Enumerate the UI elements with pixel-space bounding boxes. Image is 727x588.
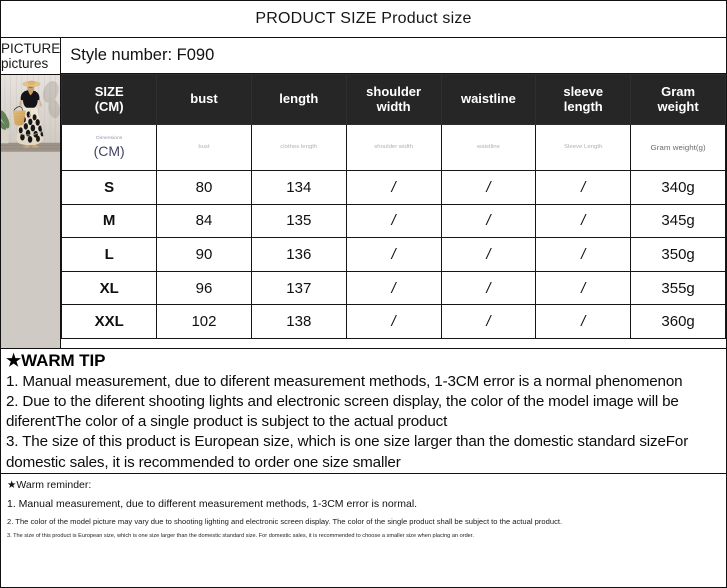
col-header-waistline: waistline — [441, 75, 536, 125]
cell-size: XXL — [62, 305, 157, 339]
cell-waistline: / — [441, 171, 536, 205]
cell-shoulder-width: / — [346, 238, 441, 272]
warm-tip-item-3: 3. The size of this product is European … — [6, 432, 721, 472]
warm-tip-item-2: 2. Due to the diferent shooting lights a… — [6, 392, 721, 432]
picture-column: PICTURE pictures — [1, 38, 61, 348]
size-table-body: S80134///340gM84135///345gL90136///350gX… — [62, 171, 726, 339]
col-header-shoulder-width: shoulder width — [346, 75, 441, 125]
details-column: Style number: F090 SIZE (CM) bust length… — [61, 38, 726, 348]
cell-gram-weight: 350g — [631, 238, 726, 272]
warm-reminder-item-3: 3. The size of this product is European … — [7, 529, 722, 544]
cell-sleeve-length: / — [536, 271, 631, 305]
main-band: PICTURE pictures — [1, 38, 726, 348]
subheader-waistline-text: waistline — [442, 144, 536, 151]
subheader-size-tiny: Dimensions — [62, 135, 156, 141]
cell-sleeve-length: / — [536, 171, 631, 205]
col-header-size-line1: SIZE — [62, 85, 156, 100]
product-photo — [1, 75, 60, 348]
subheader-size: Dimensions (CM) — [62, 125, 157, 171]
cell-sleeve-length: / — [536, 305, 631, 339]
cell-shoulder-width: / — [346, 171, 441, 205]
size-table-header: SIZE (CM) bust length shoulder width wai… — [62, 75, 726, 125]
table-row: XL96137///355g — [62, 271, 726, 305]
col-header-shoulder-line1: shoulder — [347, 85, 441, 100]
subheader-gram: Gram weight(g) — [631, 125, 726, 171]
cell-gram-weight: 355g — [631, 271, 726, 305]
cell-bust: 90 — [157, 238, 252, 272]
subheader-bust: bust — [157, 125, 252, 171]
col-header-gram-weight: Gram weight — [631, 75, 726, 125]
page-title: PRODUCT SIZE Product size — [255, 10, 471, 28]
product-photo-illustration — [1, 75, 60, 152]
cell-bust: 84 — [157, 204, 252, 238]
subheader-gram-text: Gram weight(g) — [631, 143, 725, 152]
table-header-row: SIZE (CM) bust length shoulder width wai… — [62, 75, 726, 125]
col-header-sleeve-line2: length — [536, 100, 630, 115]
cell-length: 136 — [251, 238, 346, 272]
subheader-bust-text: bust — [157, 144, 251, 151]
subheader-shoulder-text: shoulder width — [347, 144, 441, 151]
size-chart-page: PRODUCT SIZE Product size PICTURE pictur… — [0, 0, 727, 588]
warm-reminder-item-1: 1. Manual measurement, due to different … — [7, 494, 722, 515]
warm-tip-block: ★WARM TIP 1. Manual measurement, due to … — [1, 348, 726, 473]
subheader-sleeve-text: Sleeve Length — [536, 144, 630, 151]
warm-tip-item-1: 1. Manual measurement, due to diferent m… — [6, 372, 721, 392]
cell-sleeve-length: / — [536, 204, 631, 238]
col-header-bust: bust — [157, 75, 252, 125]
picture-label: PICTURE pictures — [1, 38, 60, 75]
warm-reminder-title: ★Warm reminder: — [7, 478, 722, 494]
subheader-shoulder: shoulder width — [346, 125, 441, 171]
table-row: S80134///340g — [62, 171, 726, 205]
col-header-size-line2: (CM) — [62, 100, 156, 115]
cell-waistline: / — [441, 271, 536, 305]
size-table: SIZE (CM) bust length shoulder width wai… — [61, 74, 726, 339]
cell-bust: 96 — [157, 271, 252, 305]
cell-shoulder-width: / — [346, 204, 441, 238]
col-header-gram-line1: Gram — [631, 85, 725, 100]
table-row: XXL102138///360g — [62, 305, 726, 339]
warm-tip-title: ★WARM TIP — [6, 351, 721, 372]
cell-length: 137 — [251, 271, 346, 305]
cell-size: L — [62, 238, 157, 272]
warm-reminder-item-2: 2. The color of the model picture may va… — [7, 515, 722, 529]
subheader-sleeve: Sleeve Length — [536, 125, 631, 171]
subheader-size-cm: (CM) — [62, 143, 156, 161]
col-header-length: length — [251, 75, 346, 125]
col-header-size: SIZE (CM) — [62, 75, 157, 125]
cell-gram-weight: 340g — [631, 171, 726, 205]
size-table-subheader: Dimensions (CM) bust clothes length shou… — [62, 125, 726, 171]
cell-bust: 80 — [157, 171, 252, 205]
cell-gram-weight: 345g — [631, 204, 726, 238]
style-number: Style number: F090 — [70, 46, 214, 65]
cell-length: 135 — [251, 204, 346, 238]
cell-size: M — [62, 204, 157, 238]
cell-sleeve-length: / — [536, 238, 631, 272]
cell-length: 138 — [251, 305, 346, 339]
style-number-row: Style number: F090 — [61, 38, 726, 74]
col-header-sleeve-length: sleeve length — [536, 75, 631, 125]
cell-size: XL — [62, 271, 157, 305]
page-title-row: PRODUCT SIZE Product size — [1, 1, 726, 38]
subheader-length: clothes length — [251, 125, 346, 171]
cell-shoulder-width: / — [346, 271, 441, 305]
table-row: M84135///345g — [62, 204, 726, 238]
col-header-sleeve-line1: sleeve — [536, 85, 630, 100]
cell-bust: 102 — [157, 305, 252, 339]
cell-waistline: / — [441, 238, 536, 272]
cell-gram-weight: 360g — [631, 305, 726, 339]
col-header-shoulder-line2: width — [347, 100, 441, 115]
col-header-gram-line2: weight — [631, 100, 725, 115]
cell-waistline: / — [441, 204, 536, 238]
cell-length: 134 — [251, 171, 346, 205]
table-subheader-row: Dimensions (CM) bust clothes length shou… — [62, 125, 726, 171]
subheader-waistline: waistline — [441, 125, 536, 171]
warm-reminder-block: ★Warm reminder: 1. Manual measurement, d… — [1, 473, 726, 544]
cell-shoulder-width: / — [346, 305, 441, 339]
subheader-length-text: clothes length — [252, 144, 346, 151]
table-row: L90136///350g — [62, 238, 726, 272]
cell-waistline: / — [441, 305, 536, 339]
cell-size: S — [62, 171, 157, 205]
